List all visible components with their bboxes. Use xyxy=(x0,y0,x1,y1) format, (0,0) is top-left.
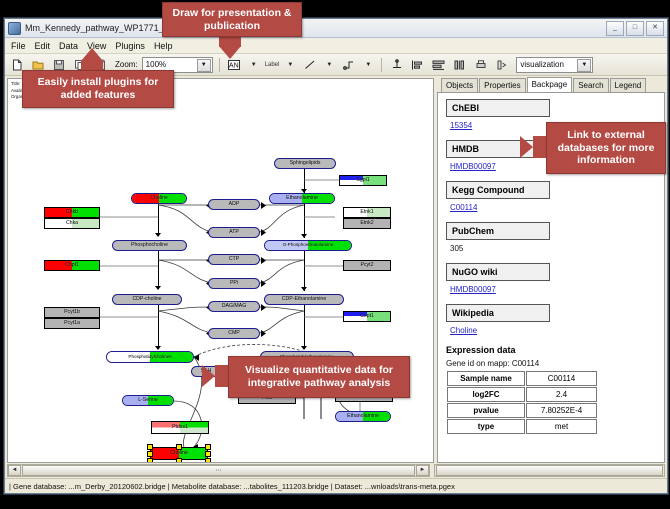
svg-text:AN: AN xyxy=(229,62,239,69)
distribute-icon[interactable] xyxy=(430,56,447,73)
menu-bar[interactable]: File Edit Data View Plugins Help xyxy=(5,38,667,54)
node-label: Phosphocholine xyxy=(131,243,168,248)
node-l-serine-left[interactable]: L-Serine xyxy=(122,395,174,406)
callout-visualize-data: Visualize quantitative data for integrat… xyxy=(228,356,410,398)
node-adp[interactable]: ADP xyxy=(208,199,260,210)
table-row: log2FC 2.4 xyxy=(447,387,597,402)
anchor-icon[interactable] xyxy=(388,56,405,73)
tab-search[interactable]: Search xyxy=(573,78,608,92)
node-phosphocholine[interactable]: Phosphocholine xyxy=(112,240,187,251)
callout-text: Easily install plugins for added feature… xyxy=(23,74,173,103)
node-label: PPi xyxy=(230,281,238,286)
row-value: met xyxy=(526,419,597,434)
node-label: Pcyt1a xyxy=(64,321,80,326)
node-dag-mag[interactable]: DAG/MAG xyxy=(208,301,260,312)
backpage-header-pubchem: PubChem xyxy=(446,222,550,240)
window-controls[interactable]: _ □ ✕ xyxy=(606,21,664,36)
visualization-combobox[interactable]: visualization ▼ xyxy=(516,57,593,73)
backpage-header-nugo: NuGO wiki xyxy=(446,263,550,281)
node-ctp[interactable]: CTP xyxy=(208,254,260,265)
minimize-button[interactable]: _ xyxy=(606,21,624,36)
callout-links-arrow-icon xyxy=(520,136,533,158)
zoom-value: 100% xyxy=(146,60,166,69)
node-choline-top[interactable]: Choline xyxy=(131,193,187,204)
callout-install-plugins: Easily install plugins for added feature… xyxy=(22,70,174,108)
cofactor-curves xyxy=(8,79,433,463)
node-cdp-choline[interactable]: CDP-choline xyxy=(112,294,182,305)
label-chevron-icon[interactable]: ▼ xyxy=(283,58,297,72)
chevron-down-icon[interactable]: ▼ xyxy=(197,59,211,72)
backpage-value-pubchem: 305 xyxy=(450,244,656,253)
scroll-thumb[interactable]: ⋯ xyxy=(22,465,415,476)
elbow-connector-icon[interactable] xyxy=(340,56,357,73)
callout-visualize-stem xyxy=(215,365,229,387)
backpage-header-wikipedia: Wikipedia xyxy=(446,304,550,322)
line-icon[interactable] xyxy=(301,56,318,73)
node-label: Etnk2 xyxy=(360,221,373,226)
node-phosphatidylcholines[interactable]: Phosphatidylcholines xyxy=(106,351,194,363)
table-row: Sample name C00114 xyxy=(447,371,597,386)
row-value: 2.4 xyxy=(526,387,597,402)
selection-handle-n[interactable] xyxy=(176,444,182,450)
selection-handle-s[interactable] xyxy=(176,458,182,463)
menu-item-file[interactable]: File xyxy=(11,41,26,51)
node-label: Pcyt2 xyxy=(361,263,374,268)
node-label: Choline xyxy=(170,451,188,456)
node-label: Etnk1 xyxy=(360,210,373,215)
node-pcyt2[interactable]: Pcyt2 xyxy=(343,260,391,271)
lock-icon[interactable] xyxy=(493,56,510,73)
sidepane-horizontal-scrollbar[interactable] xyxy=(434,464,665,477)
table-row: pvalue 7.80252E-4 xyxy=(447,403,597,418)
node-cept1[interactable]: Cept1 xyxy=(343,311,391,322)
node-o-phosphoethanolamine[interactable]: O-Phosphoethanolamine xyxy=(264,240,352,251)
node-label: Sgpl1 xyxy=(356,178,369,183)
selection-handle-e[interactable] xyxy=(205,451,211,457)
node-sphingolipids[interactable]: Sphingolipids xyxy=(274,158,336,169)
callout-draw-arrow-icon xyxy=(219,46,241,59)
node-label: Choline xyxy=(150,196,168,201)
callout-visualize-arrow-icon xyxy=(202,365,215,387)
node-cmp[interactable]: CMP xyxy=(208,328,260,339)
callout-text: Visualize quantitative data for integrat… xyxy=(229,362,409,391)
node-label: CTP xyxy=(229,257,239,262)
line-chevron-icon[interactable]: ▼ xyxy=(322,58,336,72)
scroll-left-arrow-icon[interactable]: ◄ xyxy=(8,465,21,476)
app-icon xyxy=(8,22,21,35)
node-label: L-Serine xyxy=(138,398,158,403)
node-etnk2[interactable]: Etnk2 xyxy=(343,218,391,229)
callout-plugins-arrow-icon xyxy=(81,48,103,61)
node-cdp-ethanolamine[interactable]: CDP-Ethanolamine xyxy=(264,294,344,305)
node-ppi[interactable]: PPi xyxy=(208,278,260,289)
node-label: Ethanolamine xyxy=(286,196,318,201)
row-key: log2FC xyxy=(447,387,525,402)
close-button[interactable]: ✕ xyxy=(646,21,664,36)
node-ethanolamine-right[interactable]: Ethanolamine xyxy=(335,411,391,422)
table-row: type met xyxy=(447,419,597,434)
node-label: Ethanolamine xyxy=(347,414,379,419)
align-left-icon[interactable] xyxy=(409,56,426,73)
row-key: type xyxy=(447,419,525,434)
screenshot-root: Mm_Kennedy_pathway_WP1771_45176.gpml _ □… xyxy=(0,0,670,509)
node-ethanolamine-top[interactable]: Ethanolamine xyxy=(269,193,335,204)
side-pane-tabs[interactable]: Objects Properties Backpage Search Legen… xyxy=(437,78,665,92)
tab-properties[interactable]: Properties xyxy=(479,78,525,92)
node-sgpl1[interactable]: Sgpl1 xyxy=(339,175,387,186)
node-label: CDP-choline xyxy=(132,297,161,302)
selection-handle-ne[interactable] xyxy=(205,444,211,450)
backpage-header-chebi: ChEBI xyxy=(446,99,550,117)
selection-handle-w[interactable] xyxy=(147,451,153,457)
callout-text: Link to external databases for more info… xyxy=(547,127,665,169)
node-label: Chkb xyxy=(66,210,78,215)
node-label: Chpt1 xyxy=(65,263,79,268)
node-label: Ptdss1 xyxy=(172,425,188,430)
node-pcyt1a[interactable]: Pcyt1a xyxy=(44,318,100,329)
callout-text: Draw for presentation & publication xyxy=(163,5,301,34)
row-value: 7.80252E-4 xyxy=(526,403,597,418)
selection-handle-se[interactable] xyxy=(205,458,211,463)
node-label: DAG/MAG xyxy=(222,304,247,309)
menu-item-edit[interactable]: Edit xyxy=(35,41,51,51)
status-bar: | Gene database: ...m_Derby_20120602.bri… xyxy=(5,478,667,493)
pathway-canvas[interactable]: Title: Availab Organis xyxy=(7,78,434,463)
tab-objects[interactable]: Objects xyxy=(441,78,478,92)
node-label: O-Phosphoethanolamine xyxy=(283,243,334,248)
toolbar-separator-2 xyxy=(381,58,382,72)
scroll-right-arrow-icon[interactable]: ► xyxy=(416,465,429,476)
toolbar-separator xyxy=(219,58,220,72)
expression-table: Sample name C00114 log2FC 2.4 pvalue 7.8… xyxy=(446,370,598,435)
node-etnk1[interactable]: Etnk1 xyxy=(343,207,391,218)
selection-handle-sw[interactable] xyxy=(147,458,153,463)
node-label: ADP xyxy=(229,202,240,207)
selection-handle-nw[interactable] xyxy=(147,444,153,450)
node-chkb[interactable]: Chkb xyxy=(44,207,100,218)
menu-item-data[interactable]: Data xyxy=(59,41,78,51)
row-key: pvalue xyxy=(447,403,525,418)
title-bar: Mm_Kennedy_pathway_WP1771_45176.gpml _ □… xyxy=(5,19,667,38)
text-format-chevron-icon[interactable]: ▼ xyxy=(247,58,261,72)
callout-draw-for-publication: Draw for presentation & publication xyxy=(162,2,302,37)
node-ptdss1[interactable]: Ptdss1 xyxy=(151,421,209,434)
backpage-link-wikipedia[interactable]: Choline xyxy=(450,326,656,335)
node-chka[interactable]: Chka xyxy=(44,218,100,229)
node-pcyt1b[interactable]: Pcyt1b xyxy=(44,307,100,318)
node-chpt1[interactable]: Chpt1 xyxy=(44,260,100,271)
maximize-button[interactable]: □ xyxy=(626,21,644,36)
callout-links-stem xyxy=(533,136,547,158)
node-label: CMP xyxy=(228,331,240,336)
zoom-label: Zoom: xyxy=(115,60,138,69)
node-label: Pcyt1b xyxy=(64,310,80,315)
menu-item-help[interactable]: Help xyxy=(154,41,173,51)
node-label: ATP xyxy=(229,230,239,235)
node-label: CDP-Ethanolamine xyxy=(282,297,326,302)
tab-legend[interactable]: Legend xyxy=(610,78,647,92)
node-label: Chka xyxy=(66,221,78,226)
backpage-header-kegg: Kegg Compound xyxy=(446,181,550,199)
expression-data-heading: Expression data xyxy=(446,345,656,355)
row-value: C00114 xyxy=(526,371,597,386)
callout-external-links: Link to external databases for more info… xyxy=(546,122,666,174)
sidepane-scroll-thumb[interactable] xyxy=(436,465,663,476)
backpage-link-nugo[interactable]: HMDB00097 xyxy=(450,285,656,294)
visualization-value: visualization xyxy=(520,60,564,69)
tab-backpage[interactable]: Backpage xyxy=(527,77,573,93)
node-label: Sphingolipids xyxy=(290,161,321,166)
visualization-chevron-icon[interactable]: ▼ xyxy=(577,59,591,72)
row-key: Sample name xyxy=(447,371,525,386)
gene-id-on-mapp: Gene id on mapp: C00114 xyxy=(446,359,656,368)
node-atp[interactable]: ATP xyxy=(208,227,260,238)
backpage-link-kegg[interactable]: C00114 xyxy=(450,203,656,212)
node-label: Cept1 xyxy=(360,314,374,319)
print-icon[interactable] xyxy=(472,56,489,73)
elbow-chevron-icon[interactable]: ▼ xyxy=(361,58,375,72)
node-label: Phosphatidylcholines xyxy=(128,355,171,360)
group-columns-icon[interactable] xyxy=(451,56,468,73)
label-tool-label[interactable]: Label xyxy=(265,62,280,68)
canvas-horizontal-scrollbar[interactable]: ◄ ⋯ ► xyxy=(7,464,430,477)
menu-item-plugins[interactable]: Plugins xyxy=(115,41,145,51)
status-bar-text: | Gene database: ...m_Derby_20120602.bri… xyxy=(9,482,455,491)
